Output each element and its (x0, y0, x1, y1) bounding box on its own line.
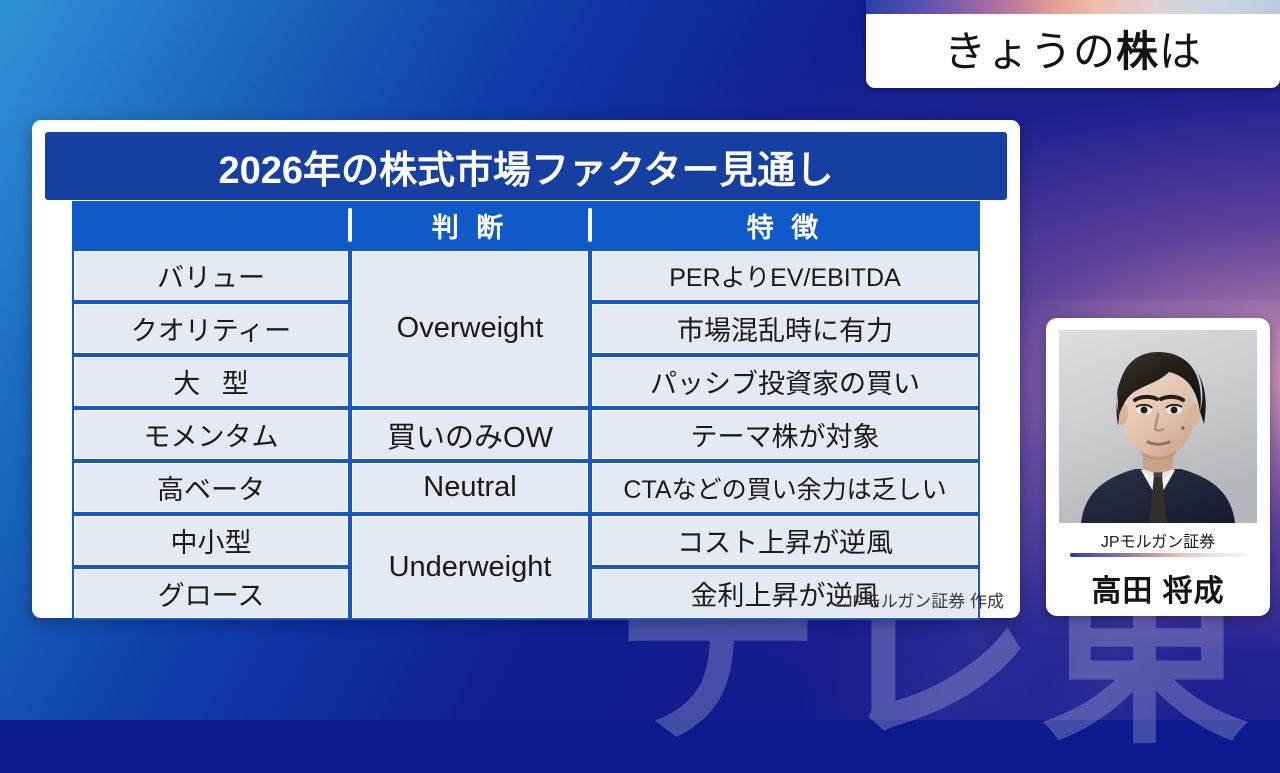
column-header-judgement: 判 断 (350, 201, 590, 249)
content-card: 2026年の株式市場ファクター見通し 判 断 特 徴 バリューOverweigh… (32, 120, 1020, 618)
cell-factor-name: 中小型 (72, 514, 350, 567)
source-credit: JPモルガン証券 作成 (844, 587, 1004, 612)
cell-judgement: Underweight (350, 514, 590, 620)
banner-title-part1: きょうの (944, 28, 1116, 75)
cell-factor-name: グロース (72, 567, 350, 620)
factor-table-wrapper: 判 断 特 徴 バリューOverweightPERよりEV/EBITDAクオリテ… (72, 201, 980, 620)
cell-factor-name: 高ベータ (72, 461, 350, 514)
cell-feature: 市場混乱時に有力 (590, 302, 980, 355)
commentator-organization: JPモルガン証券 (1046, 528, 1270, 552)
table-row: 高ベータNeutralCTAなどの買い余力は乏しい (72, 461, 980, 514)
cell-judgement: Neutral (350, 461, 590, 514)
card-title-bar: 2026年の株式市場ファクター見通し (45, 132, 1007, 200)
cell-feature: テーマ株が対象 (590, 408, 980, 461)
cell-feature: コスト上昇が逆風 (590, 514, 980, 567)
commentator-name: 高田 将成 (1046, 566, 1270, 610)
cell-feature: CTAなどの買い余力は乏しい (590, 461, 980, 514)
program-banner: きょうの株は (866, 0, 1280, 88)
cell-factor-name: バリュー (72, 249, 350, 302)
card-title-text: 2026年の株式市場ファクター見通し (218, 139, 833, 194)
banner-accent-stripe (866, 0, 1280, 14)
banner-title: きょうの株は (944, 18, 1202, 79)
column-header-feature: 特 徴 (590, 201, 980, 249)
cell-factor-name: 大 型 (72, 355, 350, 408)
cell-factor-name: モメンタム (72, 408, 350, 461)
factor-table: 判 断 特 徴 バリューOverweightPERよりEV/EBITDAクオリテ… (72, 201, 980, 620)
table-header-row: 判 断 特 徴 (72, 201, 980, 249)
commentator-photo (1059, 330, 1257, 523)
banner-title-part2: は (1159, 28, 1202, 75)
commentator-divider (1070, 553, 1246, 557)
table-row: モメンタム買いのみOWテーマ株が対象 (72, 408, 980, 461)
table-head: 判 断 特 徴 (72, 201, 980, 249)
cell-feature: PERよりEV/EBITDA (590, 249, 980, 302)
banner-title-keyword: 株 (1116, 28, 1159, 75)
cell-feature: パッシブ投資家の買い (590, 355, 980, 408)
commentator-card: JPモルガン証券 高田 将成 (1046, 318, 1270, 616)
cell-judgement: Overweight (350, 249, 590, 408)
table-body: バリューOverweightPERよりEV/EBITDAクオリティー市場混乱時に… (72, 249, 980, 620)
table-row: バリューOverweightPERよりEV/EBITDA (72, 249, 980, 302)
cell-factor-name: クオリティー (72, 302, 350, 355)
column-header-factor (72, 201, 350, 249)
table-row: 中小型Underweightコスト上昇が逆風 (72, 514, 980, 567)
cell-judgement: 買いのみOW (350, 408, 590, 461)
